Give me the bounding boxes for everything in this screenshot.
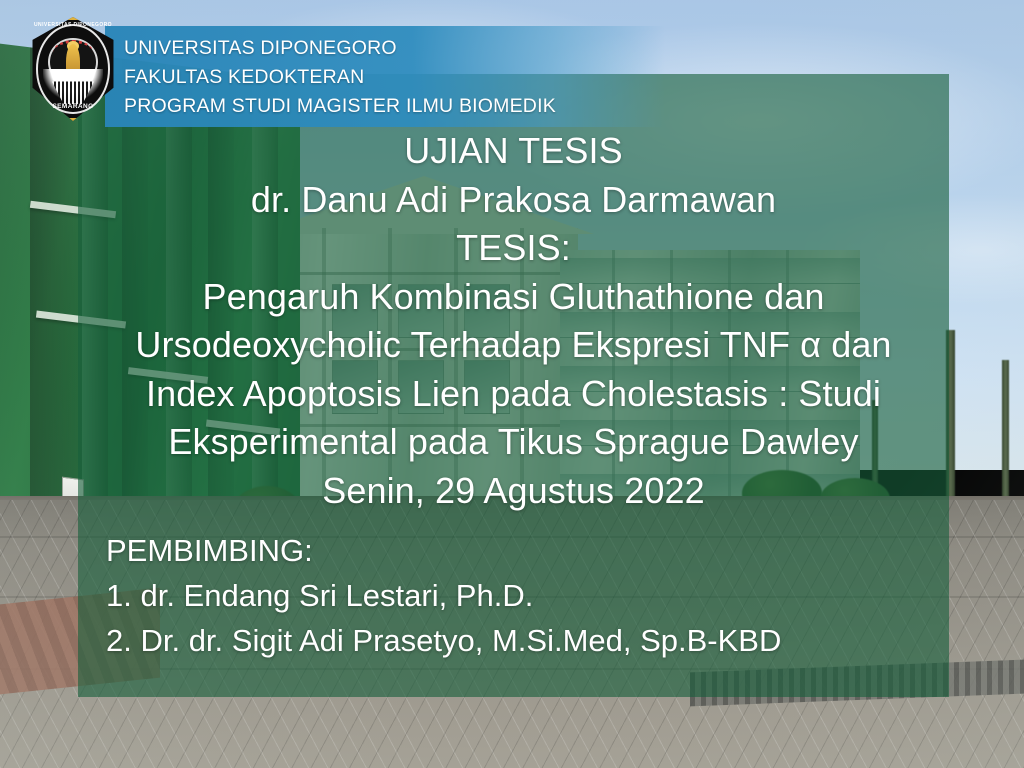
logo-arc-text-bottom: SEMARANG <box>29 103 117 110</box>
institution-header: UNIVERSITAS DIPONEGORO FAKULTAS KEDOKTER… <box>124 34 844 121</box>
thesis-title-line: Index Apoptosis Lien pada Cholestasis : … <box>78 370 949 419</box>
advisors-section: PEMBIMBING: 1. dr. Endang Sri Lestari, P… <box>106 528 946 663</box>
thesis-title-line: Eksperimental pada Tikus Sprague Dawley <box>78 418 949 467</box>
header-line-university: UNIVERSITAS DIPONEGORO <box>124 34 844 63</box>
advisors-heading: PEMBIMBING: <box>106 528 946 573</box>
logo-arc-text-top: UNIVERSITAS DIPONEGORO <box>29 22 117 28</box>
event-label: UJIAN TESIS <box>78 127 949 176</box>
thesis-label: TESIS: <box>78 224 949 273</box>
thesis-title-line: Pengaruh Kombinasi Gluthathione dan <box>78 273 949 322</box>
slide-root: UNIVERSITAS DIPONEGORO SEMARANG UNIVERSI… <box>0 0 1024 768</box>
main-announcement: UJIAN TESIS dr. Danu Adi Prakosa Darmawa… <box>78 127 949 515</box>
advisor-item: 2. Dr. dr. Sigit Adi Prasetyo, M.Si.Med,… <box>106 618 946 663</box>
event-date: Senin, 29 Agustus 2022 <box>78 467 949 516</box>
header-line-faculty: FAKULTAS KEDOKTERAN <box>124 63 844 92</box>
presenter-name: dr. Danu Adi Prakosa Darmawan <box>78 176 949 225</box>
header-line-program: PROGRAM STUDI MAGISTER ILMU BIOMEDIK <box>124 92 844 121</box>
advisor-item: 1. dr. Endang Sri Lestari, Ph.D. <box>106 573 946 618</box>
thesis-title-line: Ursodeoxycholic Terhadap Ekspresi TNF α … <box>78 321 949 370</box>
university-logo: UNIVERSITAS DIPONEGORO SEMARANG <box>29 17 117 121</box>
